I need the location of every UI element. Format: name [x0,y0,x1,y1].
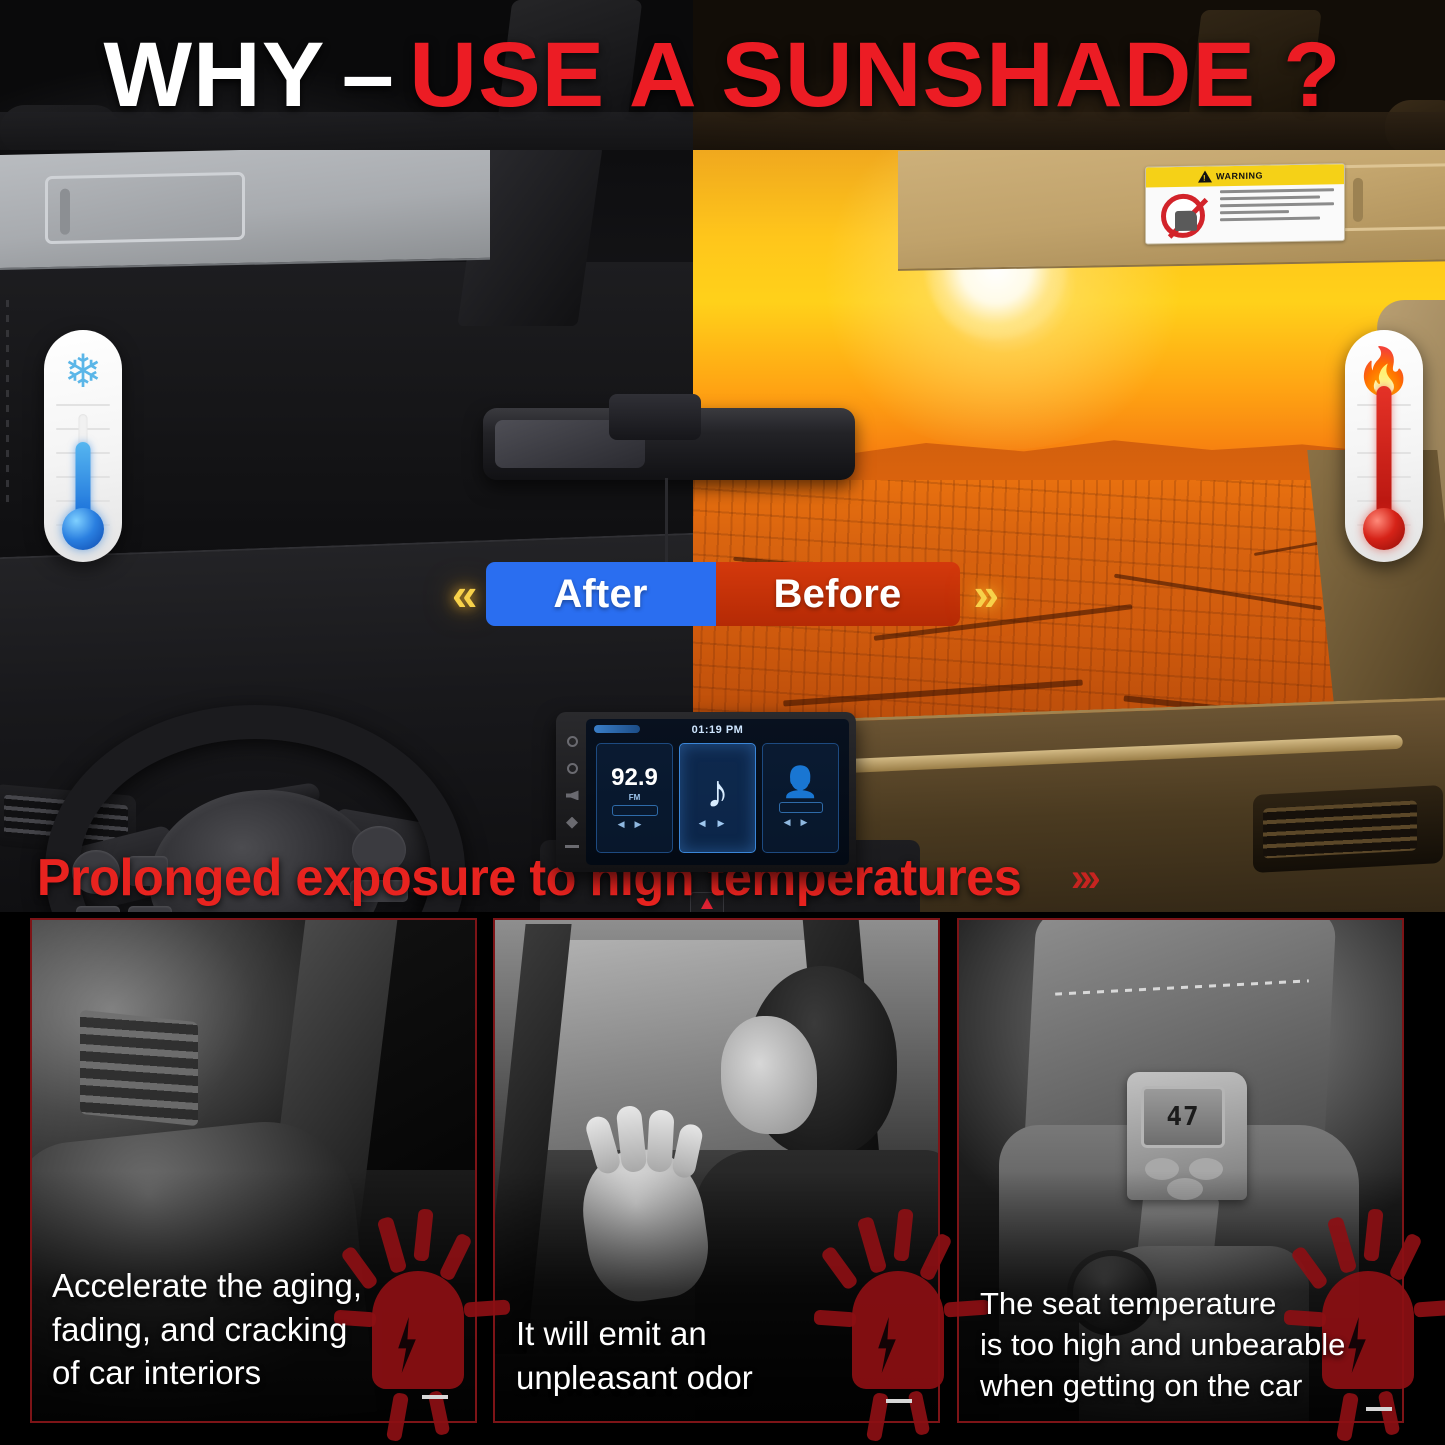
caption-line: when getting on the car [980,1366,1400,1407]
caption-line: is too high and unbearable [980,1325,1400,1366]
headliner-stitching [6,300,9,510]
warning-symbol [1146,186,1220,244]
warning-text-line [1220,210,1289,214]
panel-caption-odor: It will emit an unpleasant odor [516,1312,920,1399]
radio-preset-bar[interactable] [612,805,658,816]
visor-slot [1353,178,1363,222]
warning-triangle-icon [1198,170,1212,182]
radio-seek-arrows[interactable]: ◀▶ [618,819,652,830]
caption-line: Accelerate the aging, [52,1264,456,1308]
header-banner: WHY – USE A SUNSHADE ? [0,0,1445,150]
music-note-icon: ♪ [706,768,729,814]
thermometer-fill [1377,386,1392,526]
person-face [721,1016,817,1134]
hot-thermometer: 🔥 [1345,330,1423,562]
infotainment-tiles: 92.9 FM ◀▶ ♪ ◀▶ 👤 ◀▶ [596,743,839,853]
no-child-seat-icon [1161,194,1205,239]
visor-slot [60,189,70,235]
infotainment-side-buttons [562,728,582,856]
finger [646,1109,674,1172]
before-after-badges: « After Before » [0,556,1445,632]
chevron-left-icon: « [452,571,472,617]
rearview-mirror [483,394,855,492]
profile-selector-bar[interactable] [779,802,823,813]
radio-frequency: 92.9 [611,766,658,790]
page-title-dash: – [342,29,409,121]
after-badge[interactable]: After [486,562,716,626]
media-tile[interactable]: ♪ ◀▶ [679,743,756,853]
menu-icon[interactable] [566,817,578,829]
caption-underscore [886,1399,912,1403]
page-title-why: WHY [103,29,341,121]
radio-tile[interactable]: 92.9 FM ◀▶ [596,743,673,853]
person-icon: 👤 [782,768,819,798]
infotainment-screen[interactable]: 01:19 PM 92.9 FM ◀▶ ♪ ◀▶ 👤 ◀▶ [586,719,849,865]
infotainment-unit: 01:19 PM 92.9 FM ◀▶ ♪ ◀▶ 👤 ◀▶ [556,712,856,872]
visor-pocket [1338,162,1445,231]
visor-pocket [45,172,245,244]
page-title-main: USE A SUNSHADE ? [409,29,1341,121]
warning-label-text [1220,184,1344,244]
sun-visor-sunlit: WARNING [898,150,1445,271]
product-infographic: WHY – USE A SUNSHADE ? [0,0,1445,1445]
warning-label-body [1146,184,1344,244]
volume-icon[interactable] [566,790,579,800]
caption-line: of car interiors [52,1351,456,1395]
sun-visor-shaded [0,150,490,270]
thermometer-reading: 47 [1166,1102,1199,1132]
page-title: WHY – USE A SUNSHADE ? [0,0,1445,150]
back-icon[interactable] [565,845,579,848]
thermometer-bulb [62,508,104,550]
home-icon[interactable] [567,763,578,774]
profile-arrows[interactable]: ◀▶ [784,817,818,828]
defrost-vent [80,1010,198,1126]
cold-thermometer: ❄ [44,330,122,562]
warning-text-line [1220,217,1320,222]
caption-underscore [1366,1407,1392,1411]
thermometer-display: 47 [1141,1086,1225,1148]
chevron-right-icon: ››› [1071,856,1096,901]
chevron-right-icon: » [974,571,994,617]
warning-text-line [1220,196,1320,201]
warning-text-line [1220,188,1334,193]
airbag-warning-label: WARNING [1145,163,1345,244]
subhead-text: Prolonged exposure to high temperatures [0,848,1021,908]
caption-line: fading, and cracking [52,1308,456,1352]
mirror-mount [609,394,701,440]
warning-label-word: WARNING [1216,171,1263,182]
snowflake-icon: ❄ [44,348,122,394]
media-track-arrows[interactable]: ◀▶ [699,818,737,829]
caption-line: The seat temperature [980,1284,1400,1325]
panel-caption-seat-temp: The seat temperature is too high and unb… [980,1284,1400,1407]
profile-tile[interactable]: 👤 ◀▶ [762,743,839,853]
radio-band: FM [629,793,641,802]
caption-line: unpleasant odor [516,1356,920,1400]
power-icon[interactable] [567,736,578,747]
caption-line: It will emit an [516,1312,920,1356]
status-bar-indicator [594,725,640,733]
before-badge[interactable]: Before [716,562,960,626]
caption-underscore [422,1395,448,1399]
warning-text-line [1220,202,1334,207]
panel-caption-aging: Accelerate the aging, fading, and cracki… [52,1264,456,1395]
thermometer-bulb [1363,508,1405,550]
